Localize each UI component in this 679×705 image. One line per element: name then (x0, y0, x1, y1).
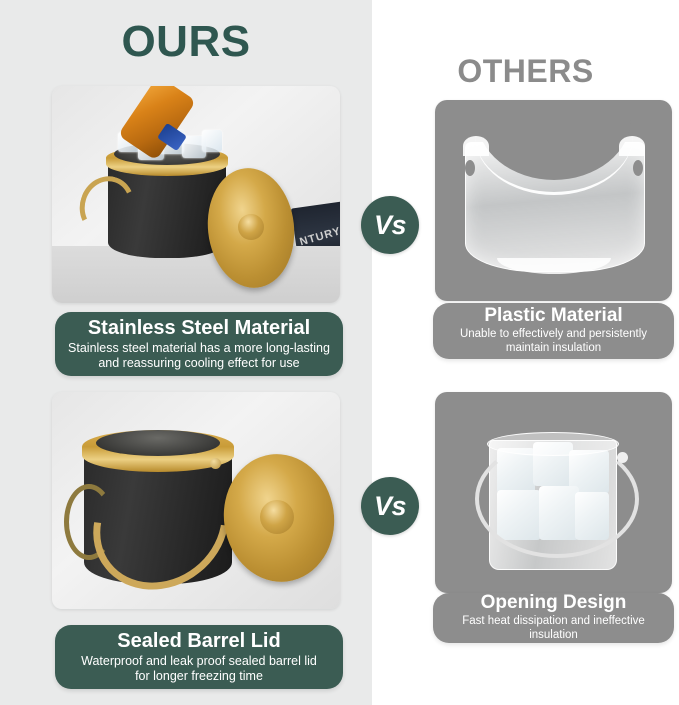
ours-feature-subtitle-1: Stainless steel material has a more long… (68, 341, 330, 371)
plastic-boat-bucket-illustration (435, 100, 672, 301)
ours-feature-banner-2: Sealed Barrel Lid Waterproof and leak pr… (55, 625, 343, 689)
comparison-infographic: OURS OTHERS NTURY (0, 0, 679, 705)
gold-lid-knob (238, 214, 264, 240)
others-drawback-subtitle-2: Fast heat dissipation and ineffective in… (443, 615, 664, 643)
ours-feature-title-1: Stainless Steel Material (88, 318, 310, 339)
book-spine-text: NTURY (298, 225, 340, 248)
others-drawback-title-1: Plastic Material (484, 306, 622, 326)
sealed-ice-bucket-illustration (52, 392, 340, 609)
glass-ice-bucket-illustration (435, 392, 672, 593)
ours-feature-title-2: Sealed Barrel Lid (117, 631, 280, 652)
ice-bucket-with-bottle-illustration: NTURY (52, 86, 340, 303)
ice-chunk (202, 130, 222, 152)
vs-badge-1: Vs (361, 196, 419, 254)
boat-base (497, 258, 611, 274)
others-heading: OTHERS (372, 55, 679, 87)
others-drawback-banner-2: Opening Design Fast heat dissipation and… (433, 593, 674, 643)
glass-handle-rivet (617, 452, 628, 463)
boat-right-grip-notch (633, 160, 643, 176)
ours-product-photo-2 (52, 392, 340, 609)
glass-bucket-handle (475, 440, 639, 558)
others-drawback-title-2: Opening Design (481, 593, 627, 613)
others-drawback-banner-1: Plastic Material Unable to effectively a… (433, 303, 674, 359)
handle-rivet (210, 458, 221, 469)
ours-product-photo-1: NTURY (52, 86, 340, 303)
ours-feature-subtitle-2: Waterproof and leak proof sealed barrel … (81, 654, 317, 684)
others-product-photo-2 (435, 392, 672, 593)
others-product-photo-1 (435, 100, 672, 301)
vs-badge-2: Vs (361, 477, 419, 535)
gold-lid-knob-2 (260, 500, 294, 534)
ours-feature-banner-1: Stainless Steel Material Stainless steel… (55, 312, 343, 376)
bucket-inner-2 (96, 430, 220, 456)
boat-left-grip-notch (465, 160, 475, 176)
boat-left-peak (463, 136, 489, 156)
ours-heading: OURS (0, 20, 372, 64)
others-drawback-subtitle-1: Unable to effectively and persistently m… (460, 328, 647, 356)
boat-right-peak (619, 136, 645, 156)
